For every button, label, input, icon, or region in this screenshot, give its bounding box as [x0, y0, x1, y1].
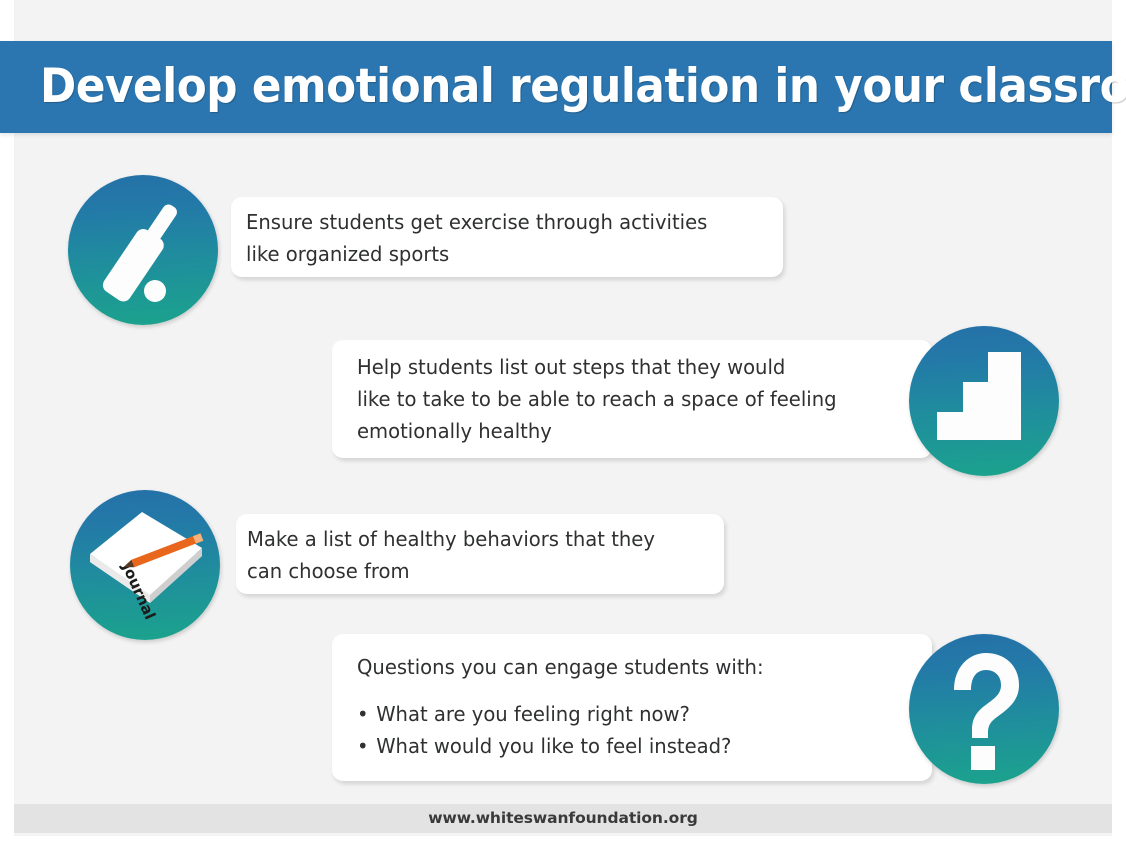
title-banner: Develop emotional regulation in your cla…	[0, 41, 1112, 133]
tip-card-4-body: Questions you can engage students with: …	[357, 652, 917, 762]
tip-card-4: Questions you can engage students with: …	[332, 634, 932, 781]
tip-card-3: Make a list of healthy behaviors that th…	[236, 514, 724, 594]
footer-bar: www.whiteswanfoundation.org	[14, 804, 1112, 833]
questions-list: What are you feeling right now? What wou…	[357, 698, 917, 762]
tip-card-2: Help students list out steps that they w…	[332, 340, 932, 458]
question-mark-icon	[909, 634, 1059, 784]
cricket-bat-and-ball-icon	[68, 175, 218, 325]
footer-url: www.whiteswanfoundation.org	[14, 804, 1112, 833]
page-title-text: Develop emotional regulation in your cla…	[40, 63, 1126, 111]
questions-lead: Questions you can engage students with:	[357, 652, 892, 682]
page-title: Develop emotional regulation in your cla…	[40, 63, 1126, 111]
list-item: What are you feeling right now?	[357, 698, 892, 730]
tip-card-1-text: Ensure students get exercise through act…	[246, 206, 752, 270]
tip-card-3-text: Make a list of healthy behaviors that th…	[247, 523, 696, 587]
journal-and-pencil-icon: Journal	[70, 490, 220, 640]
tip-card-2-text: Help students list out steps that they w…	[357, 351, 892, 447]
stairs-icon	[909, 326, 1059, 476]
tip-card-1: Ensure students get exercise through act…	[231, 197, 783, 277]
list-item: What would you like to feel instead?	[357, 730, 892, 762]
infographic-poster: Develop emotional regulation in your cla…	[0, 0, 1126, 846]
